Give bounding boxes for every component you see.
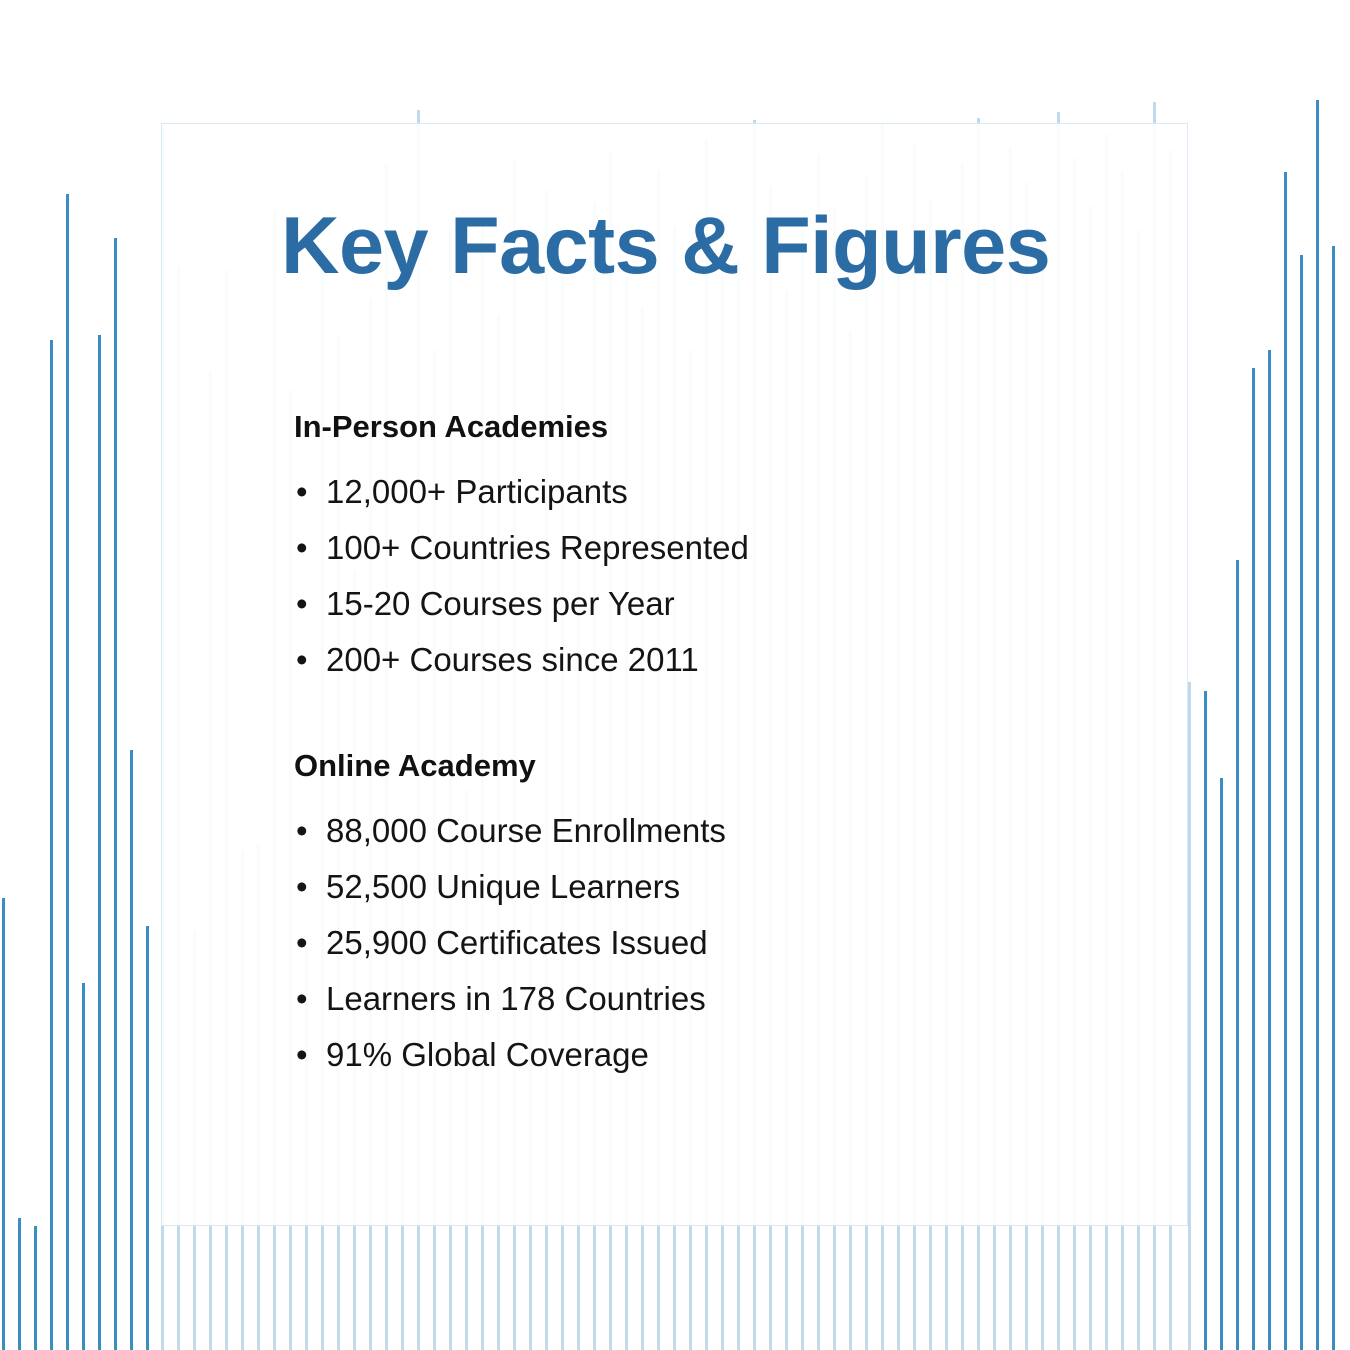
bullet-dot-icon: • [296,915,308,971]
bullet-dot-icon: • [296,632,308,688]
bullet-dot-icon: • [296,1027,308,1083]
section-heading-in-person: In-Person Academies [294,411,1154,442]
bullet-item-label: 200+ Courses since 2011 [326,641,699,678]
section-online: Online Academy •88,000 Course Enrollment… [294,750,1154,1083]
bullet-item: •91% Global Coverage [294,1027,1154,1083]
bullet-dot-icon: • [296,803,308,859]
bullet-item-label: 100+ Countries Represented [326,529,749,566]
page-title: Key Facts & Figures [281,206,1050,287]
bullet-dot-icon: • [296,859,308,915]
bullet-item: •15-20 Courses per Year [294,576,1154,632]
bullet-item: •25,900 Certificates Issued [294,915,1154,971]
section-heading-online: Online Academy [294,750,1154,781]
bullet-dot-icon: • [296,464,308,520]
bullet-list-online: •88,000 Course Enrollments•52,500 Unique… [294,803,1154,1083]
section-in-person: In-Person Academies •12,000+ Participant… [294,411,1154,688]
bullet-item-label: 52,500 Unique Learners [326,868,680,905]
bullet-item-label: 12,000+ Participants [326,473,628,510]
slide-canvas: Key Facts & Figures In-Person Academies … [0,0,1350,1350]
bullet-item-label: Learners in 178 Countries [326,980,706,1017]
bullet-dot-icon: • [296,971,308,1027]
bullet-item: •52,500 Unique Learners [294,859,1154,915]
bullet-list-in-person: •12,000+ Participants•100+ Countries Rep… [294,464,1154,688]
bullet-item: •100+ Countries Represented [294,520,1154,576]
bullet-item-label: 15-20 Courses per Year [326,585,675,622]
slide-content: Key Facts & Figures In-Person Academies … [0,0,1350,1350]
bullet-item: •12,000+ Participants [294,464,1154,520]
bullet-item-label: 88,000 Course Enrollments [326,812,726,849]
bullet-dot-icon: • [296,520,308,576]
bullet-item-label: 25,900 Certificates Issued [326,924,708,961]
bullet-item: •88,000 Course Enrollments [294,803,1154,859]
bullet-item-label: 91% Global Coverage [326,1036,649,1073]
bullet-item: •Learners in 178 Countries [294,971,1154,1027]
bullet-dot-icon: • [296,576,308,632]
bullet-item: •200+ Courses since 2011 [294,632,1154,688]
